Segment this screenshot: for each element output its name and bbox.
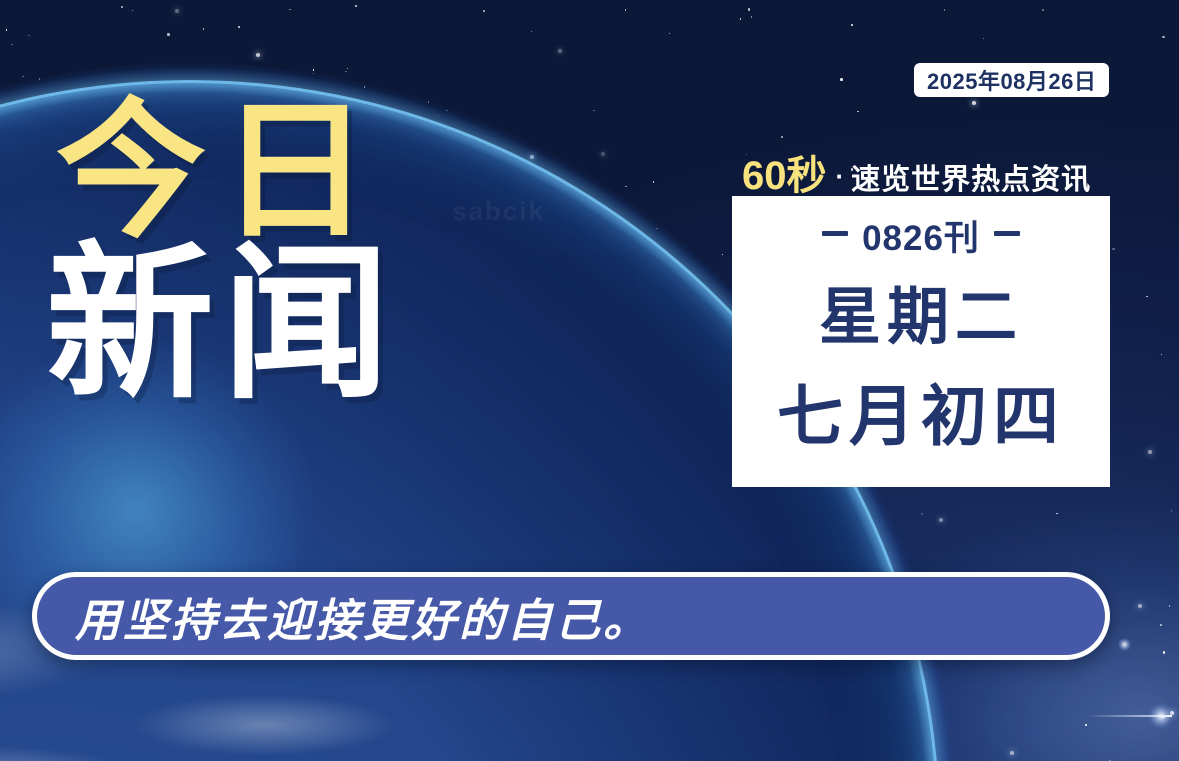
star-icon <box>669 33 671 35</box>
star-icon <box>1163 651 1166 654</box>
star-icon <box>558 49 562 53</box>
star-icon <box>653 181 655 183</box>
star-icon <box>1161 354 1163 356</box>
date-badge: 2025年08月26日 <box>914 63 1109 97</box>
star-icon <box>1010 751 1014 755</box>
star-icon <box>625 186 627 188</box>
star-icon <box>11 44 13 46</box>
star-icon <box>1148 450 1152 454</box>
star-icon <box>1146 296 1148 298</box>
star-icon <box>531 31 533 33</box>
quote-text: 用坚持去迎接更好的自己。 <box>75 584 651 649</box>
star-icon <box>857 111 859 113</box>
poster-canvas: sabcik 2025年08月26日 今日 新闻 60秒 · 速览世界热点资讯 … <box>0 0 1179 761</box>
star-icon <box>1112 248 1115 251</box>
star-icon <box>748 8 751 11</box>
star-icon <box>593 110 595 112</box>
weekday-label: 星期二 <box>819 287 1023 349</box>
star-icon <box>167 33 170 36</box>
lens-flare-star-icon <box>1148 703 1174 729</box>
star-icon <box>751 16 753 18</box>
star-icon <box>1056 513 1058 515</box>
tagline-text: 速览世界热点资讯 <box>851 156 1091 198</box>
issue-row: 0826刊 <box>808 210 1034 261</box>
star-icon <box>355 5 357 7</box>
star-icon <box>256 53 260 57</box>
star-icon <box>175 9 179 13</box>
star-icon <box>1138 604 1142 608</box>
issue-label: 0826刊 <box>862 210 980 261</box>
star-icon <box>851 24 853 26</box>
star-icon <box>781 136 783 138</box>
hero-title-line1: 今日 <box>56 96 466 246</box>
star-icon <box>203 28 205 30</box>
star-icon <box>939 518 943 522</box>
tagline-separator-icon: · <box>836 161 845 192</box>
star-icon <box>944 9 946 11</box>
bright-star-small-icon <box>1118 638 1131 651</box>
star-icon <box>483 10 485 12</box>
hero-title: 今日 新闻 <box>46 96 466 408</box>
star-icon <box>1171 510 1173 512</box>
star-icon <box>921 513 924 516</box>
star-icon <box>983 38 985 40</box>
star-icon <box>972 101 976 105</box>
quote-bar: 用坚持去迎接更好的自己。 <box>32 572 1110 660</box>
star-icon <box>740 18 742 20</box>
tagline-seconds: 60秒 <box>742 143 827 201</box>
star-icon <box>1169 605 1171 607</box>
info-card: 0826刊 星期二 七月初四 <box>732 196 1110 487</box>
dash-left-icon <box>822 231 848 236</box>
star-icon <box>1085 724 1087 726</box>
star-icon <box>656 228 658 230</box>
star-icon <box>132 10 134 12</box>
star-icon <box>345 71 347 73</box>
dash-right-icon <box>994 231 1020 236</box>
star-icon <box>6 29 8 31</box>
star-icon <box>1160 624 1162 626</box>
star-icon <box>601 152 605 156</box>
star-icon <box>625 9 627 11</box>
star-icon <box>722 254 724 256</box>
star-icon <box>121 6 123 8</box>
star-icon <box>39 78 41 80</box>
star-icon <box>530 155 534 159</box>
star-icon <box>347 68 349 70</box>
star-icon <box>1162 36 1165 39</box>
star-icon <box>28 35 30 37</box>
star-icon <box>840 78 843 81</box>
star-icon <box>289 9 291 11</box>
star-icon <box>313 69 315 71</box>
star-icon <box>313 73 315 75</box>
lunar-date-label: 七月初四 <box>777 383 1065 449</box>
star-icon <box>22 76 24 78</box>
hero-title-line2: 新闻 <box>46 240 466 408</box>
tagline: 60秒 · 速览世界热点资讯 <box>742 143 1091 201</box>
star-icon <box>238 26 240 28</box>
star-icon <box>1042 9 1044 11</box>
